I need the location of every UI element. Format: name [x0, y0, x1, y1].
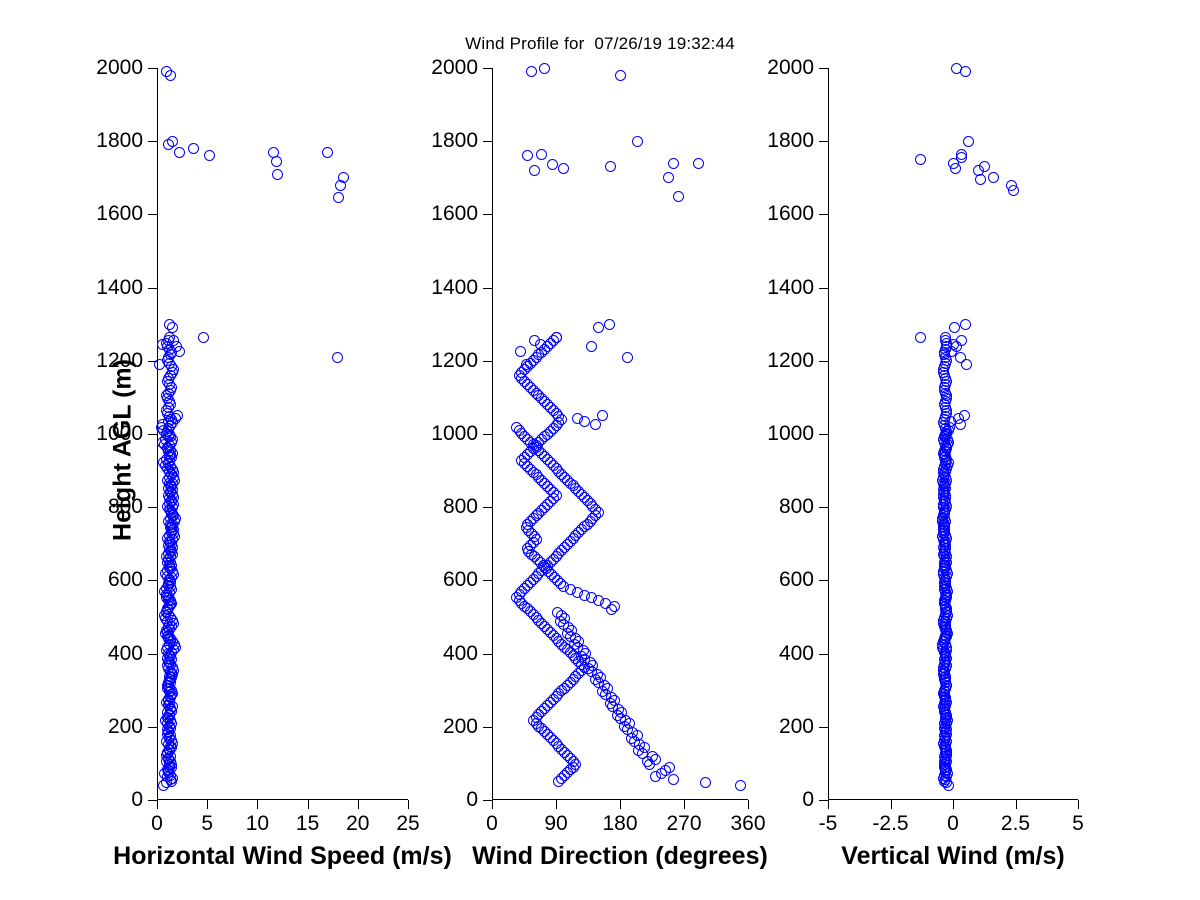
y-tick-label: 1000 [431, 422, 478, 446]
y-tick-label: 1800 [431, 129, 478, 153]
y-tick-mark [148, 214, 157, 215]
y-tick-mark [483, 288, 492, 289]
data-point [605, 161, 616, 172]
y-tick-mark [148, 580, 157, 581]
data-point [188, 143, 199, 154]
y-tick-label: 2000 [96, 56, 143, 80]
data-point [157, 339, 168, 350]
data-point [1006, 180, 1017, 191]
scatter-series-horizontal-wind-speed [157, 68, 408, 800]
wind-profile-figure: Wind Profile for 07/26/19 19:32:44 Heigh… [0, 0, 1200, 900]
y-tick-label: 200 [108, 715, 143, 739]
data-point [558, 163, 569, 174]
data-point [268, 147, 279, 158]
y-tick-mark [483, 507, 492, 508]
y-tick-label: 800 [108, 495, 143, 519]
y-origin-label-1: 0 [466, 788, 478, 812]
x-tick-label: 10 [246, 812, 269, 836]
y-tick-label: 600 [443, 568, 478, 592]
x-axis-label-vertical-wind: Vertical Wind (m/s) [841, 842, 1064, 871]
y-origin-label-0: 0 [131, 788, 143, 812]
x-tick-mark [556, 800, 557, 809]
y-tick-label: 1200 [767, 349, 814, 373]
y-tick-mark [819, 214, 828, 215]
x-tick-label: -2.5 [872, 812, 908, 836]
y-tick-mark [819, 68, 828, 69]
x-tick-mark [492, 800, 493, 809]
data-point [597, 410, 608, 421]
x-tick-mark [358, 800, 359, 809]
y-tick-label: 2000 [431, 56, 478, 80]
y-tick-mark [819, 361, 828, 362]
y-tick-mark [148, 288, 157, 289]
data-point [956, 152, 967, 163]
data-point [950, 163, 961, 174]
data-point [572, 413, 583, 424]
x-tick-mark [620, 800, 621, 809]
y-tick-mark [148, 141, 157, 142]
panel-wind-direction: 2004006008001000120014001600180020000901… [492, 68, 748, 800]
data-point [975, 174, 986, 185]
data-point [547, 159, 558, 170]
y-tick-mark [819, 288, 828, 289]
x-tick-label: 15 [296, 812, 319, 836]
x-tick-label: 0 [151, 812, 163, 836]
y-tick-mark [483, 727, 492, 728]
data-point [951, 63, 962, 74]
y-tick-mark [483, 68, 492, 69]
y-tick-label: 1400 [767, 276, 814, 300]
y-tick-label: 800 [779, 495, 814, 519]
y-tick-mark [483, 141, 492, 142]
y-tick-mark [148, 727, 157, 728]
y-tick-label: 1600 [431, 202, 478, 226]
data-point [272, 169, 283, 180]
x-tick-label: -5 [819, 812, 838, 836]
y-tick-label: 600 [108, 568, 143, 592]
data-point [551, 332, 562, 343]
x-tick-label: 180 [602, 812, 637, 836]
y-tick-mark [148, 68, 157, 69]
data-point [174, 147, 185, 158]
y-tick-label: 1400 [431, 276, 478, 300]
data-point [590, 419, 601, 430]
x-tick-label: 5 [201, 812, 213, 836]
data-point [163, 139, 174, 150]
data-point [915, 332, 926, 343]
x-tick-label: 270 [666, 812, 701, 836]
y-tick-label: 200 [443, 715, 478, 739]
data-point [154, 359, 165, 370]
x-tick-mark [257, 800, 258, 809]
y-tick-mark [483, 434, 492, 435]
data-point [333, 192, 344, 203]
data-point [961, 359, 972, 370]
y-tick-mark [483, 580, 492, 581]
x-tick-mark [1078, 800, 1079, 809]
x-tick-label: 0 [947, 812, 959, 836]
x-tick-mark [684, 800, 685, 809]
y-tick-label: 1600 [96, 202, 143, 226]
y-tick-mark [819, 434, 828, 435]
y-tick-label: 400 [108, 642, 143, 666]
data-point [165, 70, 176, 81]
data-point [963, 136, 974, 147]
data-point [586, 341, 597, 352]
y-tick-mark [819, 141, 828, 142]
data-point [526, 66, 537, 77]
y-tick-mark [819, 580, 828, 581]
y-tick-mark [483, 214, 492, 215]
data-point [735, 780, 746, 791]
data-point [522, 150, 533, 161]
x-tick-label: 20 [346, 812, 369, 836]
data-point [948, 339, 959, 350]
data-point [198, 332, 209, 343]
data-point [949, 322, 960, 333]
x-tick-label: 5 [1072, 812, 1084, 836]
x-tick-mark [157, 800, 158, 809]
data-point [168, 335, 179, 346]
y-tick-label: 1400 [96, 276, 143, 300]
x-tick-mark [953, 800, 954, 809]
data-point [204, 150, 215, 161]
data-point [700, 777, 711, 788]
data-point [529, 165, 540, 176]
x-tick-mark [748, 800, 749, 809]
data-point [615, 70, 626, 81]
panel-vertical-wind: 200400600800100012001400160018002000-5-2… [828, 68, 1078, 800]
y-tick-label: 1800 [767, 129, 814, 153]
data-point [515, 346, 526, 357]
data-point [664, 762, 675, 773]
x-tick-label: 25 [396, 812, 419, 836]
y-tick-label: 600 [779, 568, 814, 592]
data-point [539, 63, 550, 74]
x-tick-mark [1016, 800, 1017, 809]
data-point [988, 172, 999, 183]
data-point [536, 149, 547, 160]
data-point [335, 180, 346, 191]
x-tick-label: 0 [486, 812, 498, 836]
data-point [604, 319, 615, 330]
y-tick-label: 1600 [767, 202, 814, 226]
x-tick-mark [828, 800, 829, 809]
y-tick-mark [819, 654, 828, 655]
x-tick-label: 90 [544, 812, 567, 836]
x-axis-label-horizontal-wind-speed: Horizontal Wind Speed (m/s) [113, 842, 452, 871]
data-point [668, 158, 679, 169]
data-point [693, 158, 704, 169]
data-point [622, 352, 633, 363]
y-tick-label: 1200 [431, 349, 478, 373]
scatter-series-vertical-wind [828, 68, 1078, 800]
x-tick-label: 2.5 [1001, 812, 1030, 836]
y-tick-mark [819, 800, 828, 801]
data-point [332, 352, 343, 363]
y-tick-label: 400 [779, 642, 814, 666]
y-tick-label: 200 [779, 715, 814, 739]
y-tick-mark [483, 361, 492, 362]
y-tick-label: 400 [443, 642, 478, 666]
scatter-series-wind-direction [492, 68, 748, 800]
data-point [174, 346, 185, 357]
y-origin-label-2: 0 [802, 788, 814, 812]
y-tick-label: 1800 [96, 129, 143, 153]
y-tick-label: 1000 [96, 422, 143, 446]
panel-horizontal-wind-speed: 2004006008001000120014001600180020000510… [157, 68, 408, 800]
data-point [673, 191, 684, 202]
x-tick-mark [408, 800, 409, 809]
x-tick-label: 360 [730, 812, 765, 836]
x-axis-label-wind-direction: Wind Direction (degrees) [472, 842, 768, 871]
data-point [535, 339, 546, 350]
x-tick-mark [891, 800, 892, 809]
data-point [663, 172, 674, 183]
x-tick-mark [308, 800, 309, 809]
data-point [632, 136, 643, 147]
y-tick-mark [148, 507, 157, 508]
data-point [959, 410, 970, 421]
y-tick-mark [148, 800, 157, 801]
x-tick-mark [207, 800, 208, 809]
data-point [647, 751, 658, 762]
y-tick-label: 1000 [767, 422, 814, 446]
y-tick-label: 800 [443, 495, 478, 519]
page-title: Wind Profile for 07/26/19 19:32:44 [0, 34, 1200, 54]
y-tick-mark [148, 434, 157, 435]
data-point [960, 319, 971, 330]
y-tick-mark [483, 654, 492, 655]
data-point [915, 154, 926, 165]
y-tick-label: 1200 [96, 349, 143, 373]
y-tick-mark [483, 800, 492, 801]
y-tick-mark [819, 507, 828, 508]
data-point [511, 422, 522, 433]
y-tick-mark [148, 654, 157, 655]
data-point [552, 607, 563, 618]
data-point [164, 319, 175, 330]
data-point [593, 322, 604, 333]
data-point [521, 359, 532, 370]
y-tick-label: 2000 [767, 56, 814, 80]
data-point [322, 147, 333, 158]
y-tick-mark [819, 727, 828, 728]
data-point [172, 410, 183, 421]
data-point [668, 774, 679, 785]
